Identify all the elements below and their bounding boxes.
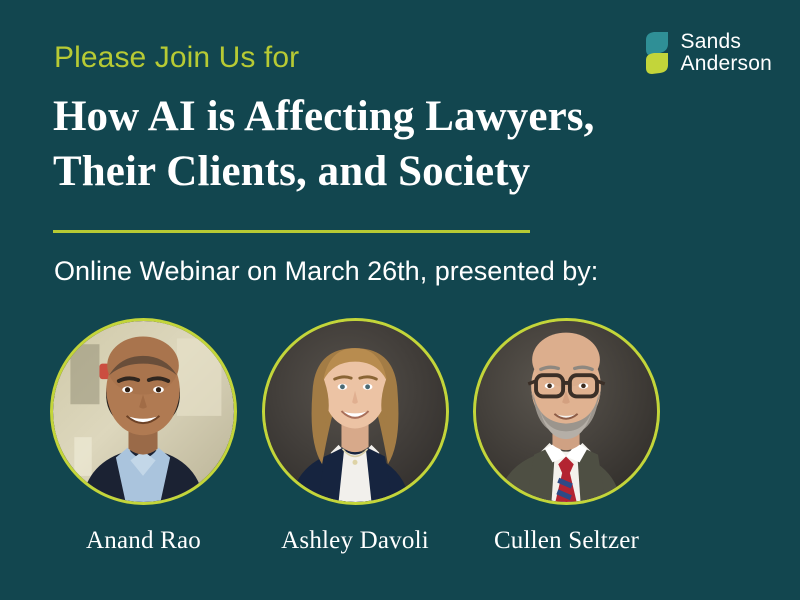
eyebrow-text: Please Join Us for [54,41,299,75]
logo-text-sands: Sands [681,31,773,53]
speaker-name: Ashley Davoli [262,527,449,555]
sands-anderson-s-mark [642,30,672,76]
portrait-cullen-seltzer [473,318,660,505]
portrait-ashley-davoli [262,318,449,505]
webinar-announcement-poster: Sands Anderson Please Join Us for How AI… [0,0,800,600]
speaker-item: Ashley Davoli [262,318,449,555]
speaker-name: Cullen Seltzer [473,527,660,555]
sands-anderson-logo: Sands Anderson [642,30,773,76]
page-title-line-2: Their Clients, and Society [53,145,693,200]
portrait-image [53,321,234,502]
page-title-line-1: How AI is Affecting Lawyers, [53,90,693,145]
page-title: How AI is Affecting Lawyers, Their Clien… [53,90,693,199]
portrait-image [476,321,657,502]
speaker-item: Anand Rao [50,318,237,555]
speaker-list: Anand Rao [50,318,660,555]
portrait-anand-rao [50,318,237,505]
portrait-image [265,321,446,502]
speaker-name: Anand Rao [50,527,237,555]
logo-text-anderson: Anderson [681,53,773,75]
divider [53,230,530,233]
subtitle-text: Online Webinar on March 26th, presented … [54,256,598,287]
speaker-item: Cullen Seltzer [473,318,660,555]
